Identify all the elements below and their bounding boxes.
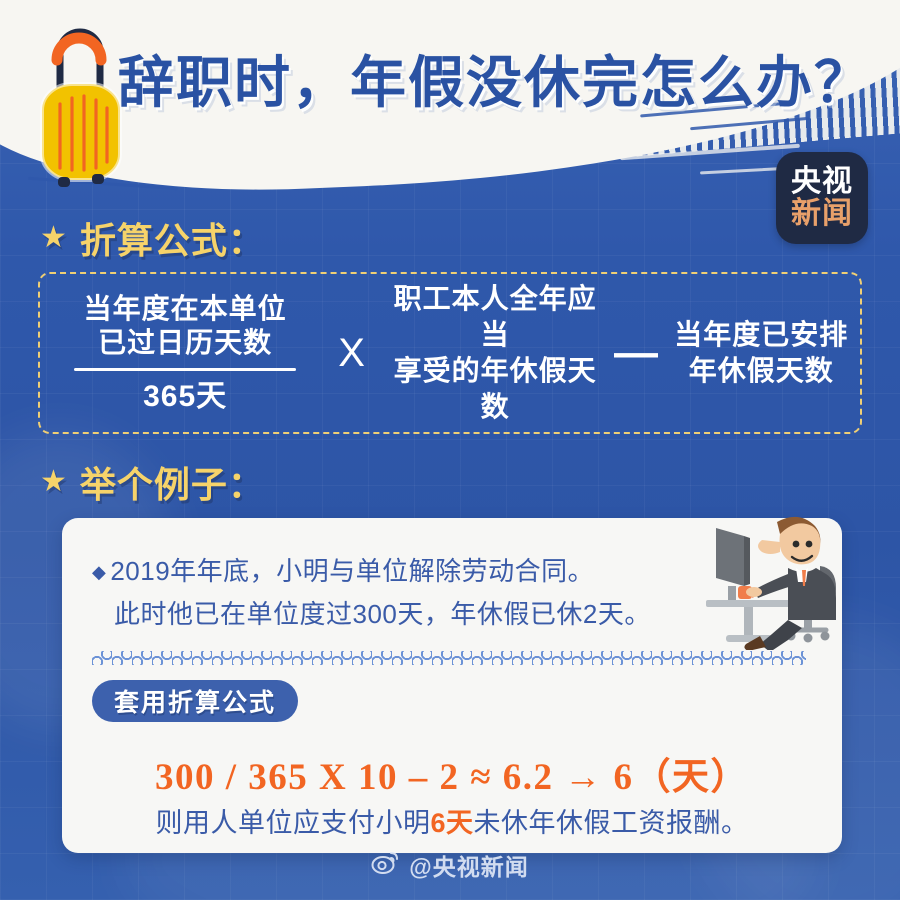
page-title: 辞职时，年假没休完怎么办？ bbox=[118, 42, 818, 124]
footer-handle: @央视新闻 bbox=[409, 848, 528, 882]
section-heading-example: ★ 举个例子： bbox=[40, 456, 265, 508]
example-description: ◆2019年年底，小明与单位解除劳动合同。 此时他已在单位度过300天，年休假已… bbox=[92, 550, 732, 635]
multiply-symbol: X bbox=[322, 331, 381, 376]
conclusion-text: 则用人单位应支付小明6天未休年休假工资报酬。 bbox=[62, 801, 842, 840]
office-worker-illustration bbox=[692, 500, 878, 650]
conversion-formula-box: 当年度在本单位 已过日历天数 365天 X 职工本人全年应当 享受的年休假天数 … bbox=[38, 272, 862, 434]
term2-line-2: 享受的年休假天数 bbox=[381, 353, 610, 425]
wavy-divider bbox=[92, 651, 806, 665]
star-icon-1: ★ bbox=[40, 223, 68, 253]
section-heading-formula: ★ 折算公式： bbox=[40, 212, 265, 264]
minus-symbol: — bbox=[609, 328, 662, 378]
term3-line-1: 当年度已安排 bbox=[662, 317, 860, 353]
diamond-bullet-icon: ◆ bbox=[92, 562, 106, 582]
formula-fraction: 当年度在本单位 已过日历天数 365天 bbox=[48, 292, 322, 415]
section-heading-formula-label: 折算公式： bbox=[80, 212, 265, 264]
fraction-denominator: 365天 bbox=[48, 379, 322, 415]
footer-attribution: @央视新闻 bbox=[0, 848, 900, 882]
weibo-icon bbox=[371, 850, 399, 880]
fraction-numerator: 当年度在本单位 已过日历天数 bbox=[48, 292, 322, 360]
logo-line-1: 央视 bbox=[791, 166, 853, 198]
fraction-numerator-line-1: 当年度在本单位 bbox=[48, 292, 322, 326]
formula-term-entitled-days: 职工本人全年应当 享受的年休假天数 bbox=[381, 281, 610, 425]
infographic-poster: 辞职时，年假没休完怎么办？ 央视 新闻 ★ 折算公式： 当年度在本单位 已过日历… bbox=[0, 0, 900, 900]
conclusion-suffix: 未休年休假工资报酬。 bbox=[474, 808, 749, 838]
formula-term-taken-days: 当年度已安排 年休假天数 bbox=[662, 317, 860, 389]
conclusion-highlight: 6天 bbox=[430, 808, 473, 838]
apply-formula-badge: 套用折算公式 bbox=[92, 680, 298, 722]
star-icon-2: ★ bbox=[40, 467, 68, 497]
cctv-news-logo: 央视 新闻 bbox=[776, 152, 868, 244]
calculation-result: 300 / 365 X 10 – 2 ≈ 6.2 → 6（天） bbox=[62, 746, 842, 800]
example-line-1: 2019年年底，小明与单位解除劳动合同。 bbox=[110, 556, 594, 586]
conclusion-prefix: 则用人单位应支付小明 bbox=[155, 808, 430, 838]
logo-line-2: 新闻 bbox=[791, 198, 853, 230]
fraction-bar bbox=[74, 368, 296, 371]
term2-line-1: 职工本人全年应当 bbox=[381, 281, 610, 353]
fraction-numerator-line-2: 已过日历天数 bbox=[48, 326, 322, 360]
term3-line-2: 年休假天数 bbox=[662, 353, 860, 389]
example-line-2: 此时他已在单位度过300天，年休假已休2天。 bbox=[92, 593, 732, 635]
section-heading-example-label: 举个例子： bbox=[80, 456, 265, 508]
